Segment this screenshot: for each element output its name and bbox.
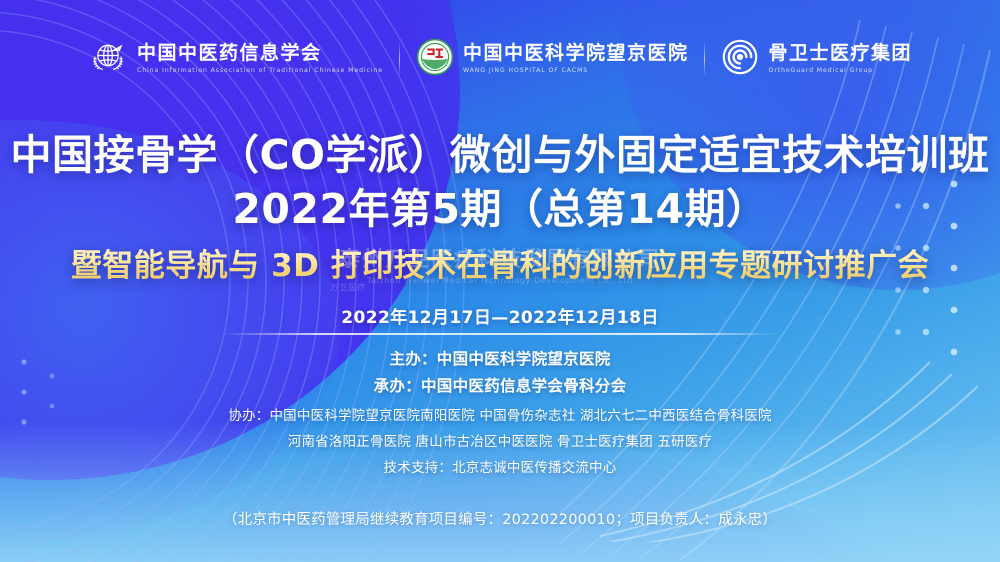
page-subtitle: 暨智能导航与 3D 打印技术在骨科的创新应用专题研讨推广会 [0,240,1000,285]
logo-name-cn: 中国中医药信息学会 [137,44,383,64]
logo-text-block: 中国中医科学院望京医院 WANG JING HOSPITAL OF CACMS [463,44,689,74]
event-date: 2022年12月17日—2022年12月18日 [0,303,1000,328]
logo-china-tcm-information-association: 中国中医药信息学会 China Information Association … [72,37,399,81]
orthoguard-spiral-icon [721,38,759,80]
organizer-host: 主办：中国中医科学院望京医院 [0,346,1000,373]
logo-name-cn: 骨卫士医疗集团 [768,44,912,64]
section-divider [222,333,778,335]
hospital-emblem-icon [416,38,454,80]
logo-wangjing-hospital: 中国中医科学院望京医院 WANG JING HOSPITAL OF CACMS [400,38,705,80]
logo-name-en: OrthoGuard Medical Group [768,67,912,74]
page-title-line1: 中国接骨学（CO学派）微创与外固定适宜技术培训班 [0,128,1000,182]
sponsor-logo-bar: 中国中医药信息学会 China Information Association … [0,30,1000,88]
conference-banner: 中国中医药信息学会 China Information Association … [0,0,1000,562]
organizers-block: 主办：中国中医科学院望京医院 承办：中国中医药信息学会骨科分会 协办：中国中医科… [0,346,1000,481]
logo-name-cn: 中国中医科学院望京医院 [463,44,689,64]
globe-wheat-icon [88,37,128,81]
organizer-coorganizers-line1: 协办：中国中医科学院望京医院南阳医院 中国骨伤杂志社 湖北六七二中西医结合骨科医… [0,403,1000,429]
logo-name-en: WANG JING HOSPITAL OF CACMS [463,67,689,74]
title-block: 中国接骨学（CO学派）微创与外固定适宜技术培训班 2022年第5期（总第14期） [0,128,1000,236]
logo-text-block: 中国中医药信息学会 China Information Association … [137,44,383,74]
organizer-tech-support: 技术支持：北京志诚中医传播交流中心 [0,455,1000,481]
project-footnote: （北京市中医药管理局继续教育项目编号：202202200010；项目负责人：成永… [0,508,1000,529]
page-title-line2: 2022年第5期（总第14期） [0,182,1000,236]
logo-text-block: 骨卫士医疗集团 OrthoGuard Medical Group [768,44,912,74]
logo-name-en: China Information Association of Traditi… [137,67,383,74]
organizer-undertaker: 承办：中国中医药信息学会骨科分会 [0,373,1000,400]
logo-orthoguard-medical-group: 骨卫士医疗集团 OrthoGuard Medical Group [705,38,928,80]
organizer-coorganizers-line2: 河南省洛阳正骨医院 唐山市古冶区中医医院 骨卫士医疗集团 五研医疗 [0,429,1000,455]
